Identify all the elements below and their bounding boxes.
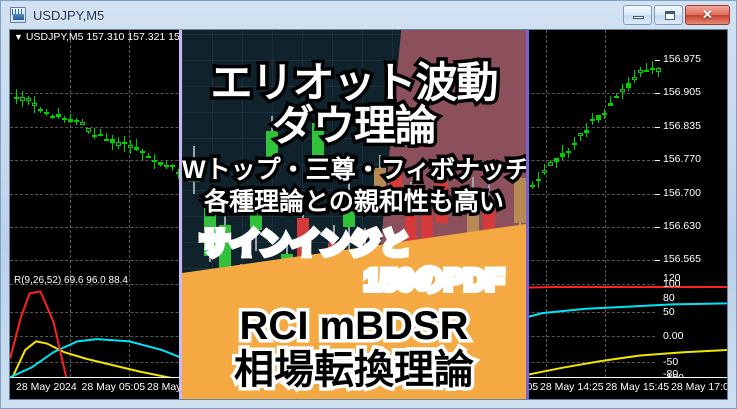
overlay-headline-1: エリオット波動 bbox=[182, 62, 526, 104]
price-label: 156.565 bbox=[663, 253, 701, 265]
indicator-label: -100 bbox=[663, 372, 684, 377]
price-tick bbox=[655, 93, 660, 94]
candle-body bbox=[620, 89, 625, 93]
candle-body bbox=[638, 70, 643, 73]
candle-body bbox=[566, 151, 571, 153]
window-controls: ✕ bbox=[623, 5, 732, 25]
candle-body bbox=[590, 119, 595, 121]
candle-body bbox=[44, 112, 49, 114]
overlay-subline-1: Wトップ・三尊・フィボナッチ bbox=[182, 158, 526, 183]
indicator-label: 0.00 bbox=[663, 330, 683, 342]
candle-body bbox=[86, 128, 91, 131]
candle-body bbox=[68, 119, 73, 122]
candle-body bbox=[602, 113, 607, 115]
candle-body bbox=[632, 77, 637, 80]
price-tick bbox=[655, 227, 660, 228]
overlay-footer-2: 相場転換理論 bbox=[182, 350, 526, 390]
price-tick bbox=[655, 194, 660, 195]
price-tick bbox=[655, 260, 660, 261]
price-label: 156.700 bbox=[663, 187, 701, 199]
price-label: 156.835 bbox=[663, 120, 701, 132]
candle-body bbox=[608, 103, 613, 106]
price-label: 156.905 bbox=[663, 86, 701, 98]
time-label: 28 May 14:25 bbox=[540, 381, 604, 393]
chart-document-icon bbox=[10, 7, 26, 23]
candle-body bbox=[554, 158, 559, 162]
gridline-vertical bbox=[70, 30, 71, 273]
candle-body bbox=[134, 147, 139, 151]
time-label: 28 May 05:05 bbox=[82, 381, 146, 393]
candle-body bbox=[122, 142, 127, 144]
overlay-footer-1: RCI mBDSR bbox=[182, 306, 526, 346]
candle-body bbox=[32, 103, 37, 106]
price-tick bbox=[655, 60, 660, 61]
chart-dropdown-icon[interactable]: ▼ bbox=[14, 32, 23, 42]
close-button[interactable]: ✕ bbox=[685, 5, 730, 25]
indicator-label: -50 bbox=[663, 356, 678, 368]
promo-overlay: エリオット波動 ダウ理論 Wトップ・三尊・フィボナッチ 各種理論との親和性も高い… bbox=[179, 30, 529, 399]
candle-body bbox=[560, 153, 565, 157]
candle-body bbox=[152, 160, 157, 162]
minimize-icon bbox=[633, 16, 644, 19]
candle-body bbox=[542, 170, 547, 173]
overlay-subline-2: 各種理論との親和性も高い bbox=[182, 190, 526, 215]
candle-body bbox=[116, 142, 121, 146]
candle-body bbox=[584, 130, 589, 132]
chart-client-area[interactable]: ▼USDJPY,M5 157.310 157.321 157. 156.9751… bbox=[9, 29, 728, 400]
candle-body bbox=[56, 114, 61, 117]
candle-body bbox=[548, 162, 553, 166]
candle-body bbox=[626, 83, 631, 88]
candle-body bbox=[92, 135, 97, 137]
gridline-vertical bbox=[546, 30, 547, 273]
maximize-icon bbox=[665, 11, 675, 20]
candle-body bbox=[572, 143, 577, 145]
candle-body bbox=[50, 116, 55, 118]
candle-body bbox=[650, 68, 655, 70]
price-label: 156.770 bbox=[663, 153, 701, 165]
price-label: 156.630 bbox=[663, 220, 701, 232]
chart-symbol-text: USDJPY,M5 157.310 157.321 157. bbox=[26, 31, 189, 43]
candle-body bbox=[128, 145, 133, 147]
candle-body bbox=[158, 162, 163, 165]
candle-body bbox=[104, 139, 109, 141]
overlay-headline-2: ダウ理論 bbox=[182, 105, 526, 147]
candle-body bbox=[164, 165, 169, 167]
candle-body bbox=[80, 122, 85, 125]
candle-body bbox=[644, 70, 649, 72]
candle-body bbox=[140, 151, 145, 153]
chart-symbol-header: ▼USDJPY,M5 157.310 157.321 157. bbox=[14, 31, 189, 43]
window-titlebar: USDJPY,M5 ✕ bbox=[1, 1, 736, 29]
indicator-label: 50 bbox=[663, 306, 675, 318]
window-title: USDJPY,M5 bbox=[33, 8, 104, 23]
candle-body bbox=[614, 96, 619, 98]
candle-body bbox=[536, 179, 541, 181]
candle-body bbox=[74, 120, 79, 122]
gridline-vertical bbox=[605, 30, 606, 273]
candle-body bbox=[20, 97, 25, 101]
candle-body bbox=[14, 97, 19, 99]
price-label: 156.975 bbox=[663, 53, 701, 65]
candle-body bbox=[146, 156, 151, 158]
mt4-chart-window: USDJPY,M5 ✕ ▼USDJPY,M5 157.310 157.321 1… bbox=[0, 0, 737, 409]
candle-body bbox=[62, 118, 67, 120]
candle-body bbox=[38, 109, 43, 111]
candle-body bbox=[656, 68, 661, 72]
candle-body bbox=[110, 139, 115, 143]
price-tick bbox=[655, 160, 660, 161]
chart-canvas[interactable]: ▼USDJPY,M5 157.310 157.321 157. 156.9751… bbox=[10, 30, 727, 399]
overlay-feature-1: サインインジと bbox=[182, 230, 526, 260]
close-icon: ✕ bbox=[686, 6, 729, 24]
time-label: 28 May 15:45 bbox=[606, 381, 670, 393]
time-label: 28 May 2024 bbox=[16, 381, 77, 393]
candle-body bbox=[578, 133, 583, 135]
candle-body bbox=[596, 115, 601, 120]
minimize-button[interactable] bbox=[623, 5, 652, 25]
candle-body bbox=[26, 98, 31, 101]
candle-body bbox=[530, 185, 535, 187]
time-label: 28 May 17:05 bbox=[671, 381, 728, 393]
indicator-label: 100 bbox=[663, 278, 681, 290]
overlay-feature-2: 150のPDF bbox=[182, 266, 526, 296]
candle-body bbox=[98, 134, 103, 136]
maximize-button[interactable] bbox=[654, 5, 683, 25]
indicator-label: 80 bbox=[663, 292, 675, 304]
overlay-text-block: エリオット波動 ダウ理論 Wトップ・三尊・フィボナッチ 各種理論との親和性も高い… bbox=[182, 30, 526, 399]
price-tick bbox=[655, 127, 660, 128]
indicator-header: R(9,26,52) 69.6 96.0 88.4 bbox=[14, 275, 128, 286]
candle-body bbox=[170, 165, 175, 167]
